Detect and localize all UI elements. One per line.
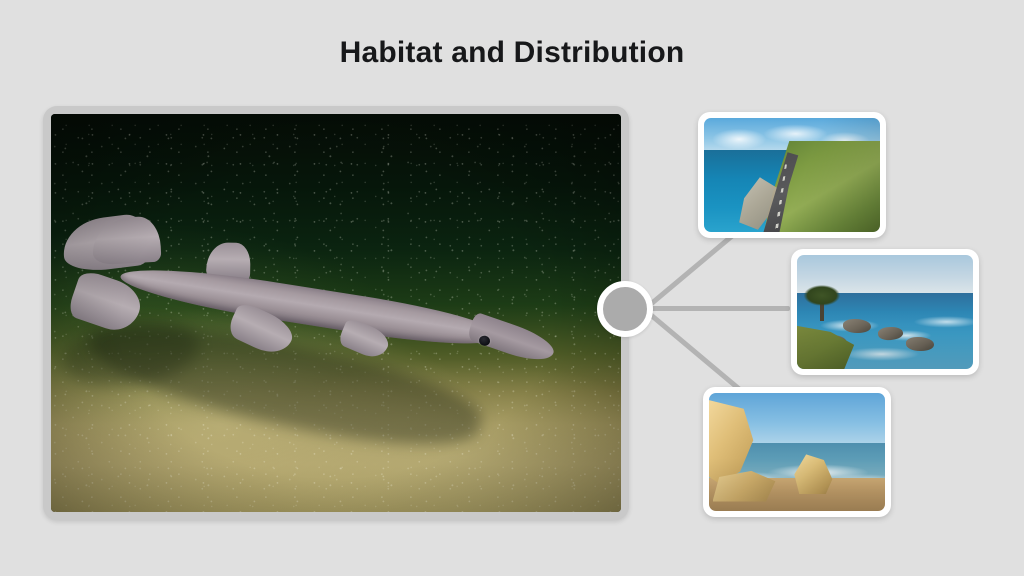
- hero-image-shark: [51, 114, 621, 512]
- photo-shading: [797, 255, 973, 369]
- page-title: Habitat and Distribution: [0, 36, 1024, 70]
- photo-shading: [704, 118, 880, 232]
- image-vignette: [51, 114, 621, 512]
- thumbnail-rocky-shore[interactable]: [791, 249, 979, 375]
- thumbnail-coastal-highway[interactable]: [698, 112, 886, 238]
- connector-to-thumbnail-1: [646, 233, 735, 309]
- thumbnail-sandstone-beach[interactable]: [703, 387, 891, 517]
- hero-image-frame[interactable]: [43, 106, 629, 520]
- thumbnail-coastal-highway-photo: [704, 118, 880, 232]
- thumbnail-rocky-shore-photo: [797, 255, 973, 369]
- connector-hub[interactable]: [597, 281, 653, 337]
- connector-to-thumbnail-3: [646, 311, 747, 397]
- thumbnail-sandstone-beach-photo: [709, 393, 885, 511]
- connector-to-thumbnail-2: [650, 306, 790, 311]
- photo-shading: [709, 393, 885, 511]
